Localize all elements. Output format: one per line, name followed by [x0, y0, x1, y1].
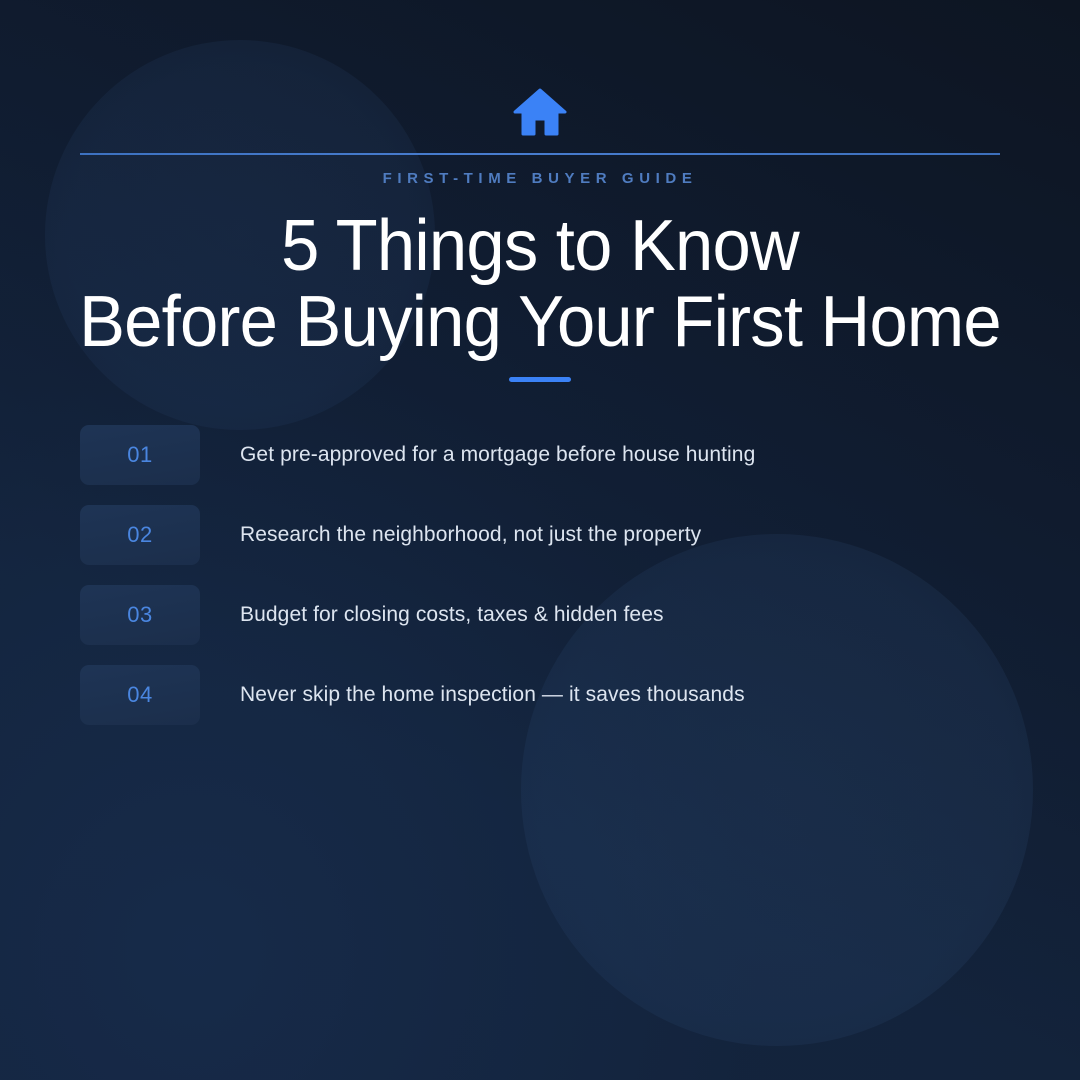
- list-item-number: 03: [127, 602, 152, 628]
- list-item-text: Get pre-approved for a mortgage before h…: [240, 443, 755, 467]
- list-item[interactable]: 02 Research the neighborhood, not just t…: [80, 505, 1020, 565]
- list-item-number-chip: 02: [80, 505, 200, 565]
- title-accent-bar: [509, 377, 571, 382]
- list-item-number-chip: 04: [80, 665, 200, 725]
- list-item[interactable]: 04 Never skip the home inspection — it s…: [80, 665, 1020, 725]
- list-item-text: Never skip the home inspection — it save…: [240, 683, 745, 707]
- infographic-canvas: FIRST-TIME BUYER GUIDE 5 Things to Know …: [0, 0, 1080, 1080]
- list-item-number-chip: 03: [80, 585, 200, 645]
- page-title: 5 Things to Know Before Buying Your Firs…: [24, 208, 1055, 360]
- list-item-text: Research the neighborhood, not just the …: [240, 523, 701, 547]
- tips-list: 01 Get pre-approved for a mortgage befor…: [80, 425, 1020, 745]
- list-item[interactable]: 03 Budget for closing costs, taxes & hid…: [80, 585, 1020, 645]
- home-icon: [513, 88, 567, 136]
- list-item-text: Budget for closing costs, taxes & hidden…: [240, 603, 664, 627]
- list-item-number: 04: [127, 682, 152, 708]
- list-item[interactable]: 01 Get pre-approved for a mortgage befor…: [80, 425, 1020, 485]
- list-item-number-chip: 01: [80, 425, 200, 485]
- eyebrow-label: FIRST-TIME BUYER GUIDE: [0, 170, 1080, 187]
- list-item-number: 02: [127, 522, 152, 548]
- list-item-number: 01: [127, 442, 152, 468]
- header-divider: [80, 153, 1000, 155]
